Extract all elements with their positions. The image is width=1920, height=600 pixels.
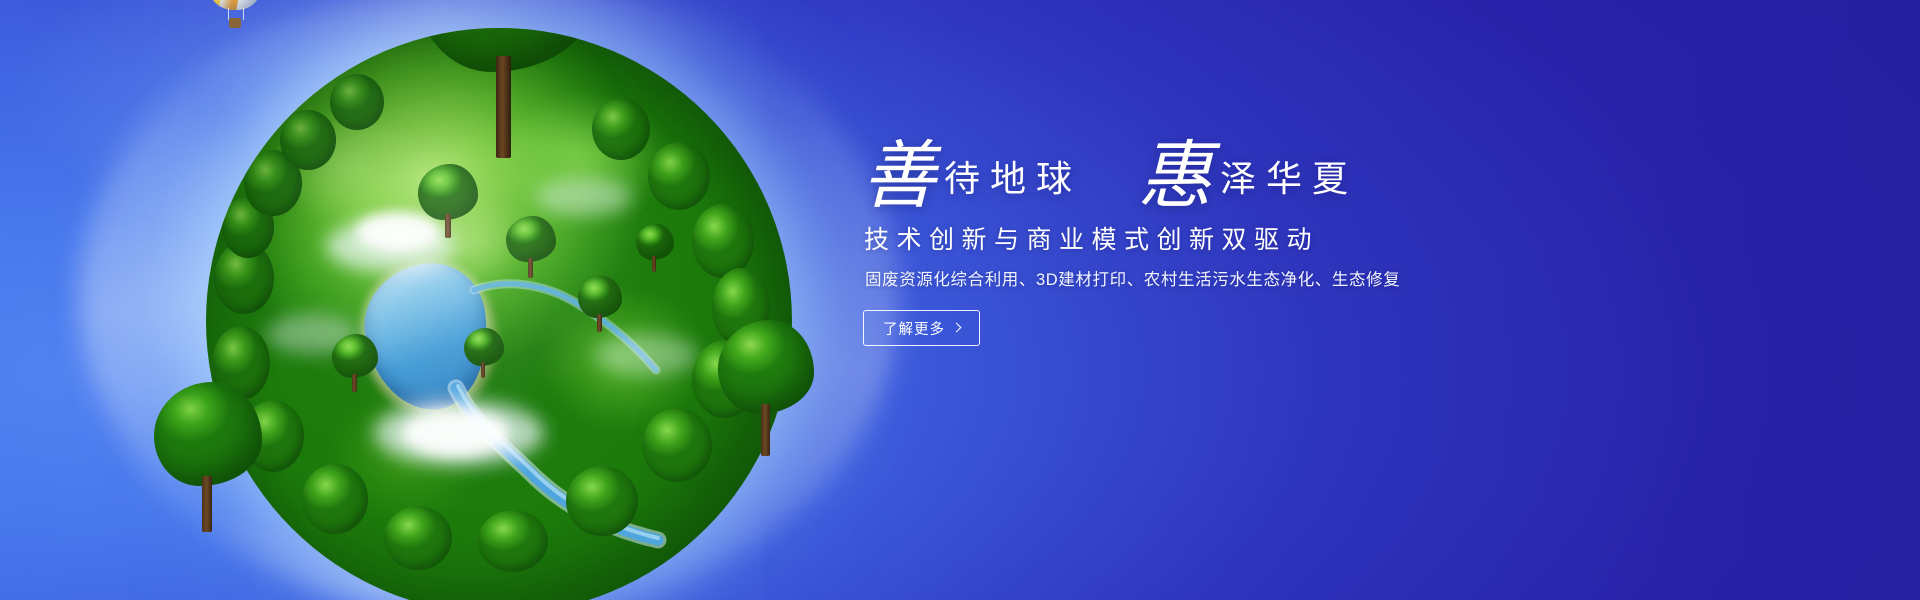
terrain-patch: [396, 178, 546, 308]
bush-icon: [648, 142, 710, 210]
bush-icon: [244, 150, 302, 216]
foreground-tree-icon: [718, 320, 814, 456]
headline-char-1: 善: [862, 136, 936, 218]
bush-icon: [566, 466, 638, 536]
terrain-patch: [296, 358, 516, 548]
tree-trunk: [352, 374, 357, 392]
foreground-tree-icon: [154, 382, 262, 532]
tree-trunk: [202, 476, 212, 532]
headline-char-2: 惠: [1138, 136, 1212, 218]
globe-sphere: [206, 28, 792, 600]
tree-crown: [578, 276, 622, 318]
tree-icon: [578, 276, 622, 332]
tree-crown: [418, 164, 478, 220]
tree-trunk: [652, 256, 656, 272]
learn-more-button[interactable]: 了解更多: [863, 310, 980, 346]
cloud-icon: [536, 178, 632, 216]
headline-text-1: 待地球: [944, 159, 1082, 199]
tree-crown: [718, 320, 814, 414]
bush-icon: [330, 74, 384, 130]
cloud-icon: [356, 212, 440, 252]
headline-text-2: 泽华夏: [1220, 159, 1358, 199]
tree-trunk: [761, 404, 770, 456]
tree-crown: [506, 216, 556, 262]
hero-tree-icon: [416, 28, 596, 158]
learn-more-label: 了解更多: [883, 318, 945, 339]
hero-banner: 善待地球惠泽华夏 技术创新与商业模式创新双驱动 固废资源化综合利用、3D建材打印…: [0, 0, 1920, 600]
cloud-icon: [594, 334, 698, 376]
cloud-icon: [402, 410, 510, 456]
tree-icon: [332, 334, 378, 392]
tree-icon: [636, 224, 674, 272]
bird-flock-icon: [544, 0, 674, 10]
tiny-planet-globe: [96, 0, 886, 600]
bush-icon: [692, 204, 754, 278]
bush-icon: [642, 408, 712, 482]
tree-trunk: [528, 258, 533, 278]
lake-shore: [345, 245, 513, 432]
tree-crown: [154, 382, 262, 486]
bush-icon: [222, 196, 274, 258]
tree-trunk: [496, 56, 511, 158]
bush-icon: [592, 98, 650, 160]
lake-shape: [356, 256, 497, 418]
bush-icon: [478, 510, 548, 572]
page-subtitle: 技术创新与商业模式创新双驱动: [864, 228, 1319, 253]
tree-icon: [418, 164, 478, 238]
cloud-icon: [266, 314, 358, 354]
page-description: 固废资源化综合利用、3D建材打印、农村生活污水生态净化、生态修复: [865, 272, 1400, 289]
cloud-icon: [374, 400, 544, 466]
tree-trunk: [597, 314, 602, 332]
hero-content: 善待地球惠泽华夏 技术创新与商业模式创新双驱动 固废资源化综合利用、3D建材打印…: [862, 0, 1842, 600]
bush-icon: [214, 242, 274, 314]
cloud-icon: [326, 220, 456, 272]
tree-trunk: [481, 362, 485, 378]
tree-icon: [506, 216, 556, 278]
tree-crown: [464, 328, 504, 366]
terrain-patch: [506, 258, 736, 458]
tree-crown: [332, 334, 378, 378]
tree-trunk: [445, 214, 451, 238]
tree-crown: [636, 224, 674, 260]
balloon-basket: [229, 18, 241, 28]
chevron-right-icon: [952, 323, 962, 333]
bush-icon: [384, 506, 452, 570]
bush-icon: [302, 464, 368, 534]
bush-icon: [280, 110, 336, 170]
page-title: 善待地球惠泽华夏: [862, 140, 1358, 214]
tree-icon: [464, 328, 504, 378]
